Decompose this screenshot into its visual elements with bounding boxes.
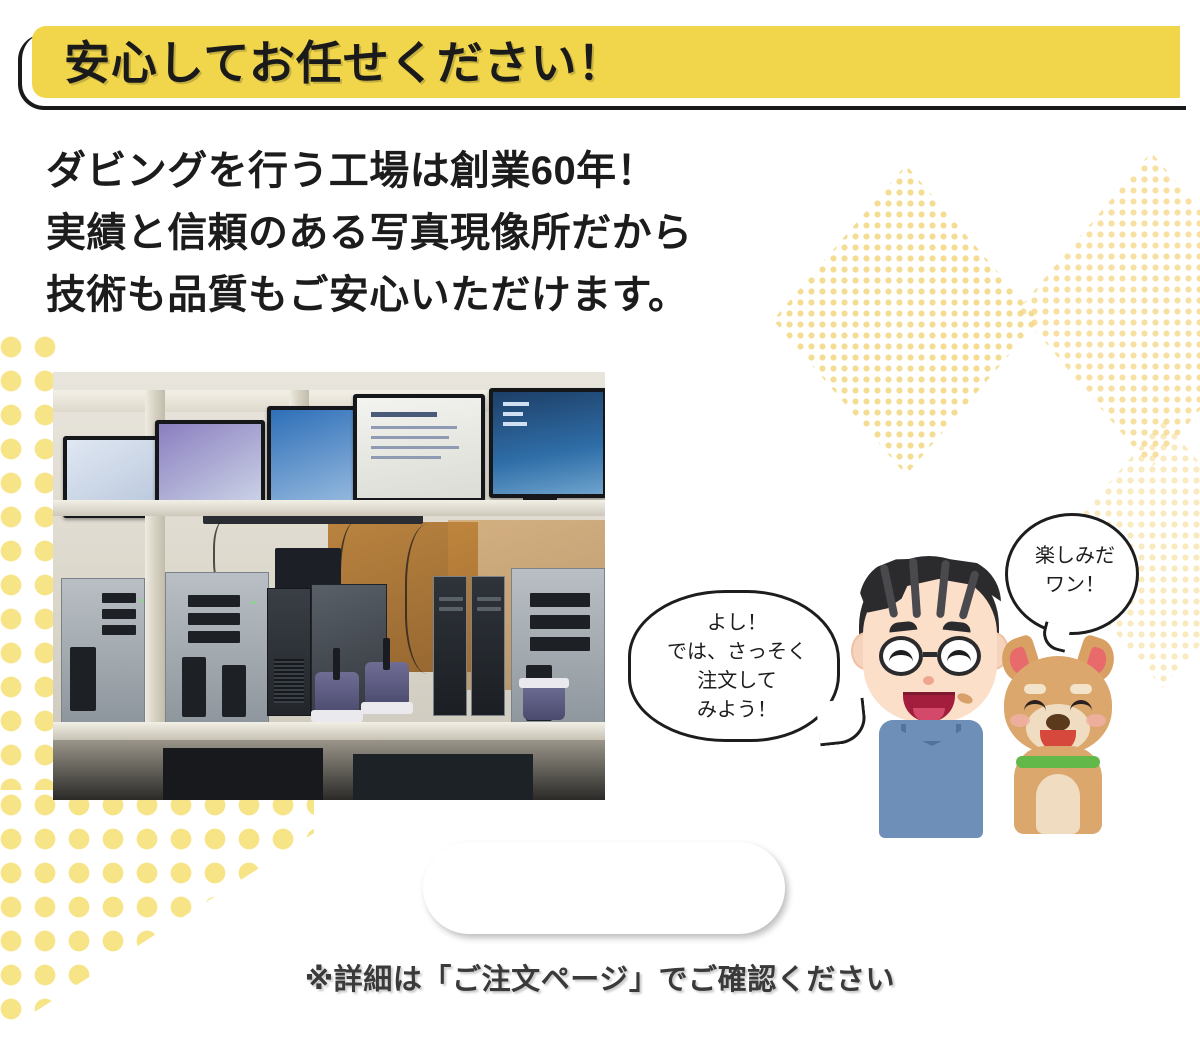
dog-nose	[1046, 714, 1070, 731]
dog-bubble-line-2: ワン！	[1008, 571, 1142, 600]
lead-copy: ダビングを行う工場は創業60年！ 実績と信頼のある写真現像所だから 技術も品質も…	[46, 140, 826, 326]
bottom-left-dot-triangle	[0, 788, 314, 1038]
man-glasses-bridge	[923, 652, 937, 657]
dog-illustration	[996, 634, 1120, 834]
banner-title: 安心してお任せください！	[64, 30, 624, 96]
footnote: ※詳細は「ご注文ページ」でご確認ください	[0, 956, 1200, 998]
man-bubble-line-2: では、さっそく	[631, 638, 843, 667]
dog-bubble-line-1: 楽しみだ	[1008, 542, 1142, 571]
promo-page: 安心してお任せください！ ダビングを行う工場は創業60年！ 実績と信頼のある写真…	[0, 0, 1200, 1038]
lead-line-3: 技術も品質もご安心いただけます。	[46, 264, 826, 326]
man-speech-bubble: よし！ では、さっそく 注文して みよう！	[628, 590, 840, 742]
diamond-dot-pattern-right	[1018, 152, 1200, 468]
order-button[interactable]	[423, 842, 785, 934]
header-banner: 安心してお任せください！	[18, 26, 1188, 110]
factory-photo	[53, 372, 605, 800]
man-bubble-line-3: 注文して	[631, 667, 843, 696]
lead-line-1: ダビングを行う工場は創業60年！	[46, 140, 826, 202]
man-bubble-line-1: よし！	[631, 609, 843, 638]
dog-collar	[1016, 756, 1100, 768]
order-button-label	[423, 842, 785, 934]
man-shirt	[879, 720, 983, 838]
man-bubble-line-4: みよう！	[631, 696, 843, 725]
man-nose	[923, 676, 934, 685]
lead-line-2: 実績と信頼のある写真現像所だから	[46, 202, 826, 264]
dog-speech-bubble: 楽しみだ ワン！	[1005, 513, 1139, 635]
